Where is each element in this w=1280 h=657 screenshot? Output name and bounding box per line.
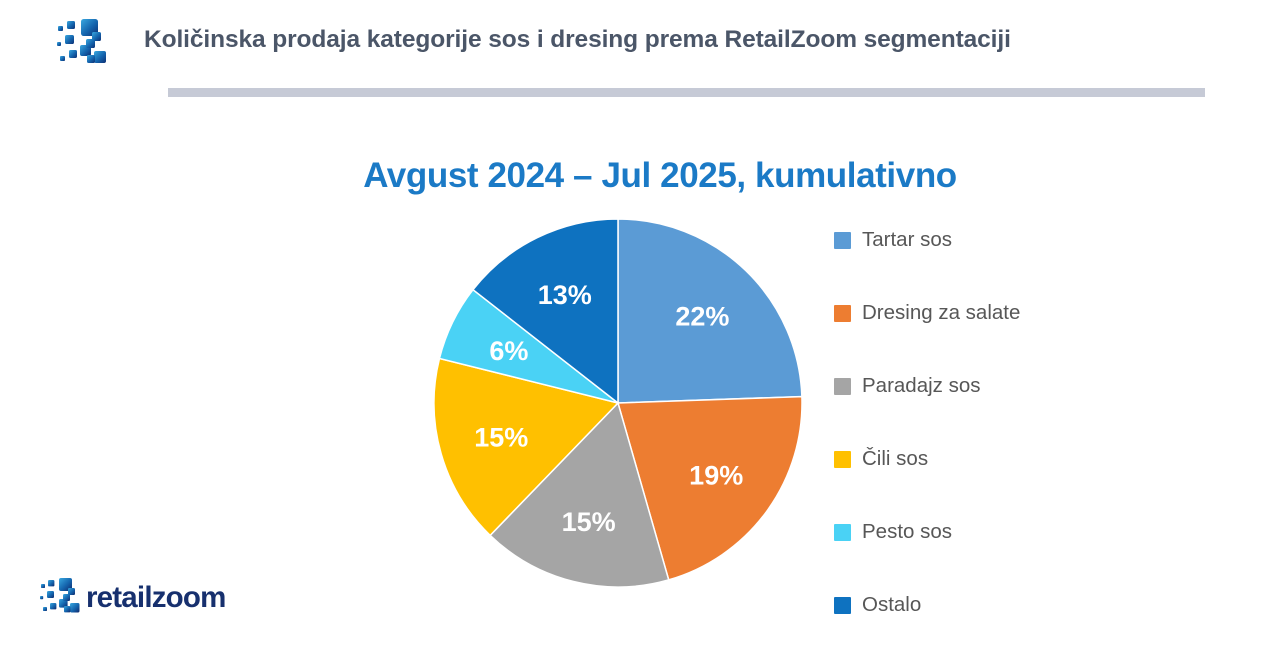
- legend-item[interactable]: Čili sos: [834, 447, 928, 471]
- pie-slice-label: 6%: [489, 336, 528, 366]
- footer-logo: retailzoom: [40, 578, 226, 618]
- retailzoom-dot-mark-icon: [56, 18, 112, 70]
- header-divider: [168, 88, 1205, 97]
- pie-slice-label: 15%: [474, 423, 528, 453]
- pie-slice-label: 13%: [538, 280, 592, 310]
- retailzoom-dot-mark-icon: [40, 578, 84, 618]
- legend-item-label: Dresing za salate: [862, 301, 1020, 325]
- legend-color-swatch: [834, 378, 851, 395]
- legend-item-label: Paradajz sos: [862, 374, 981, 398]
- legend-item[interactable]: Dresing za salate: [834, 301, 1020, 325]
- legend-item[interactable]: Tartar sos: [834, 228, 952, 252]
- legend-color-swatch: [834, 232, 851, 249]
- legend-color-swatch: [834, 597, 851, 614]
- legend-color-swatch: [834, 524, 851, 541]
- chart-title: Avgust 2024 – Jul 2025, kumulativno: [0, 156, 1280, 196]
- legend-item[interactable]: Ostalo: [834, 593, 921, 617]
- legend-item-label: Ostalo: [862, 593, 921, 617]
- legend-item-label: Čili sos: [862, 447, 928, 471]
- pie-chart: 22%19%15%15%6%13%: [433, 218, 803, 588]
- footer-wordmark: retailzoom: [86, 581, 226, 615]
- chart-title-text: Avgust 2024 – Jul 2025, kumulativno: [363, 156, 957, 196]
- pie-slice-label: 15%: [562, 507, 616, 537]
- pie-slice-label: 19%: [689, 460, 743, 490]
- legend-item[interactable]: Pesto sos: [834, 520, 952, 544]
- legend-item-label: Tartar sos: [862, 228, 952, 252]
- pie-chart-svg: 22%19%15%15%6%13%: [433, 218, 803, 588]
- page-title: Količinska prodaja kategorije sos i dres…: [144, 26, 1224, 54]
- legend-color-swatch: [834, 451, 851, 468]
- legend-item-label: Pesto sos: [862, 520, 952, 544]
- legend-color-swatch: [834, 305, 851, 322]
- pie-slice-label: 22%: [675, 302, 729, 332]
- slide-canvas: Količinska prodaja kategorije sos i dres…: [0, 0, 1280, 657]
- legend-item[interactable]: Paradajz sos: [834, 374, 981, 398]
